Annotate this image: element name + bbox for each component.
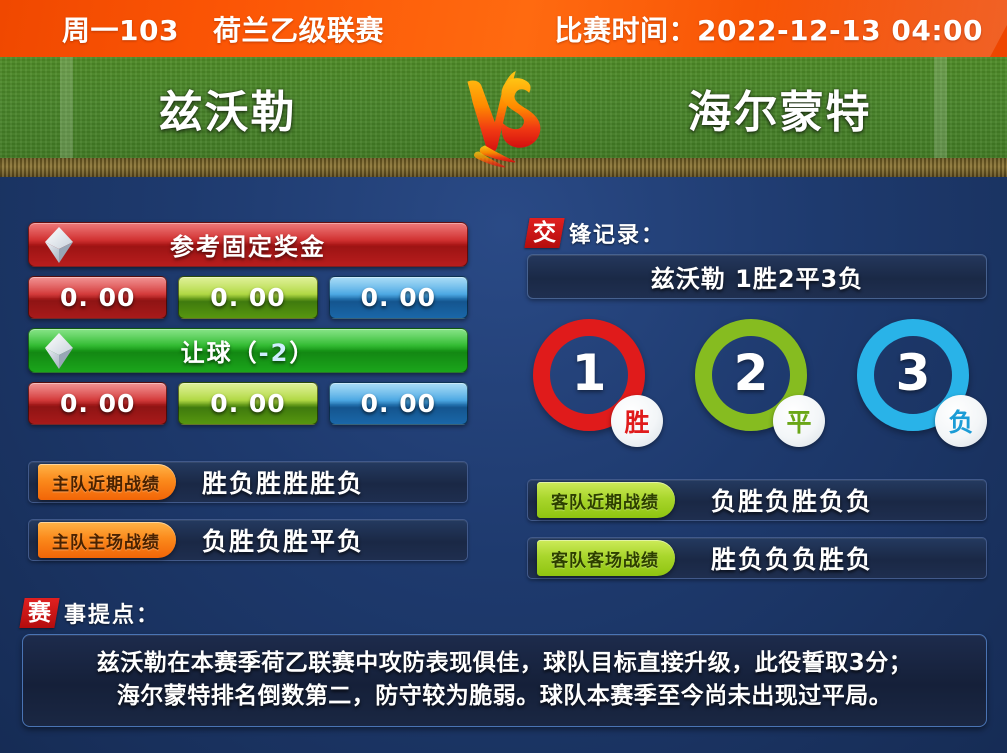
analysis-tag-icon: 赛 [19, 598, 59, 628]
match-preview-card: 周一103 荷兰乙级联赛 比赛时间：2022-12-13 04:00 兹沃勒 海… [0, 0, 1007, 753]
h2h-section-heading: 交 锋记录： [527, 218, 987, 248]
home-recent-form-label: 主队近期战绩 [38, 464, 176, 500]
fixed-odds-row: 0. 00 0. 00 0. 00 [28, 276, 468, 319]
ring-win-count: 1 [572, 348, 607, 398]
fixed-odds-title-bar: 参考固定奖金 [28, 222, 468, 267]
h2h-ring-draw: 2 平 [695, 319, 819, 443]
away-venue-form-label: 客队客场战绩 [537, 540, 675, 576]
header-right-group: 比赛时间：2022-12-13 04:00 [555, 0, 983, 57]
handicap-odd-home[interactable]: 0. 00 [28, 382, 167, 425]
ring-draw-label: 平 [773, 395, 825, 447]
odds-panel: 参考固定奖金 0. 00 0. 00 0. 00 让球（-2） [28, 222, 468, 561]
fixed-odd-away[interactable]: 0. 00 [329, 276, 468, 319]
ring-loss-label: 负 [935, 395, 987, 447]
home-venue-form-row: 主队主场战绩 负胜负胜平负 [28, 519, 468, 561]
ring-win-label: 胜 [611, 395, 663, 447]
ring-draw-count: 2 [734, 348, 769, 398]
away-team-name: 海尔蒙特 [552, 57, 1007, 158]
gem-icon [37, 223, 81, 267]
gem-icon [37, 329, 81, 373]
away-venue-form-row: 客队客场战绩 胜负负负胜负 [527, 537, 987, 579]
analysis-section: 赛 事提点： 兹沃勒在本赛季荷乙联赛中攻防表现俱佳，球队目标直接升级，此役誓取3… [22, 598, 987, 727]
handicap-value: -2 [259, 339, 290, 367]
handicap-odd-away[interactable]: 0. 00 [329, 382, 468, 425]
h2h-tag-icon: 交 [524, 218, 564, 248]
analysis-line-2: 海尔蒙特排名倒数第二，防守较为脆弱。球队本赛季至今尚未出现过平局。 [41, 680, 968, 713]
analysis-heading-text: 事提点： [64, 597, 160, 629]
fixed-odds-title-text: 参考固定奖金 [170, 227, 326, 262]
league-name: 荷兰乙级联赛 [213, 9, 384, 49]
header-bar: 周一103 荷兰乙级联赛 比赛时间：2022-12-13 04:00 [0, 0, 1007, 57]
match-time: 比赛时间：2022-12-13 04:00 [555, 9, 983, 49]
handicap-title-bar: 让球（-2） [28, 328, 468, 373]
handicap-title-suffix: ） [289, 339, 315, 367]
analysis-text-box: 兹沃勒在本赛季荷乙联赛中攻防表现俱佳，球队目标直接升级，此役誓取3分； 海尔蒙特… [22, 634, 987, 727]
head-to-head-panel: 交 锋记录： 兹沃勒 1胜2平3负 1 胜 2 平 3 [527, 218, 987, 579]
h2h-summary-bar: 兹沃勒 1胜2平3负 [527, 254, 987, 299]
header-left-group: 周一103 荷兰乙级联赛 [62, 0, 384, 57]
handicap-title-text: 让球（-2） [181, 333, 316, 368]
home-team-name: 兹沃勒 [0, 57, 455, 158]
analysis-line-1: 兹沃勒在本赛季荷乙联赛中攻防表现俱佳，球队目标直接升级，此役誓取3分； [41, 647, 968, 680]
h2h-ring-win: 1 胜 [533, 319, 657, 443]
h2h-ring-loss: 3 负 [857, 319, 981, 443]
home-recent-form-row: 主队近期战绩 胜负胜胜胜负 [28, 461, 468, 503]
away-recent-form-label: 客队近期战绩 [537, 482, 675, 518]
fixed-odd-draw[interactable]: 0. 00 [178, 276, 317, 319]
home-venue-form-label: 主队主场战绩 [38, 522, 176, 558]
ring-loss-count: 3 [896, 348, 931, 398]
handicap-title-prefix: 让球（ [181, 339, 259, 367]
away-recent-form-row: 客队近期战绩 负胜负胜负负 [527, 479, 987, 521]
handicap-odds-row: 0. 00 0. 00 0. 00 [28, 382, 468, 425]
match-number: 周一103 [62, 9, 179, 49]
vs-icon [455, 66, 552, 170]
handicap-odd-draw[interactable]: 0. 00 [178, 382, 317, 425]
h2h-rings-group: 1 胜 2 平 3 负 [527, 319, 987, 443]
fixed-odd-home[interactable]: 0. 00 [28, 276, 167, 319]
analysis-section-heading: 赛 事提点： [22, 598, 987, 628]
h2h-heading-text: 锋记录： [569, 217, 665, 249]
